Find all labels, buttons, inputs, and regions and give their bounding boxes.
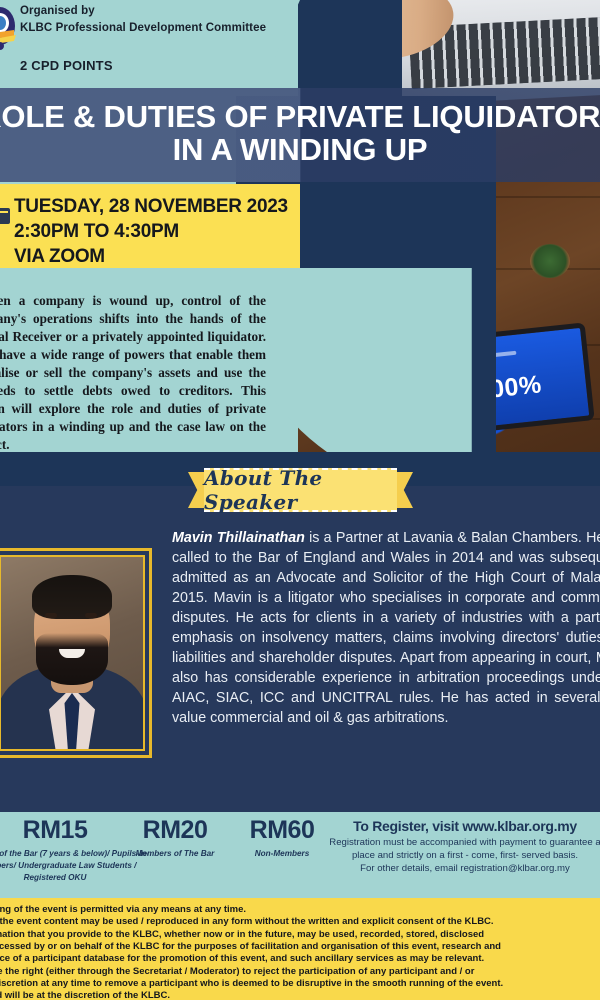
- registration-info: To Register, visit www.klbar.org.my Regi…: [310, 818, 600, 876]
- registration-heading[interactable]: To Register, visit www.klbar.org.my: [310, 818, 600, 834]
- organised-by-label: Organised by: [20, 5, 95, 17]
- disclaimer-item: No recording of the event is permitted v…: [0, 904, 600, 916]
- speaker-bio: Mavin Thillainathan is a Partner at Lava…: [172, 528, 600, 728]
- event-date: TUESDAY, 28 NOVEMBER 2023: [14, 194, 288, 219]
- disclaimer-item: Any refund will be at the discretion of …: [0, 990, 600, 1000]
- speaker-bio-text: is a Partner at Lavania & Balan Chambers…: [172, 530, 600, 726]
- registration-line-3: For other details, email registration@kl…: [310, 862, 600, 875]
- header-navy-block: [298, 0, 402, 96]
- registration-line-1: Registration must be accompanied with pa…: [310, 836, 600, 849]
- disclaimer-item: and/or processed by or on behalf of the …: [0, 941, 600, 953]
- title-line-2: IN A WINDING UP: [173, 134, 428, 167]
- about-the-speaker-ribbon: About The Speaker: [188, 468, 413, 512]
- disclaimer-section: No recording of the event is permitted v…: [0, 898, 600, 1000]
- price-tier-2: RM20 Members of The Bar: [110, 816, 240, 860]
- ribbon-label: About The Speaker: [204, 466, 397, 514]
- speaker-photo-frame: [0, 548, 152, 758]
- cpd-points-badge: 2 CPD POINTS: [20, 58, 113, 73]
- event-platform: VIA ZOOM: [14, 244, 288, 269]
- calendar-icon: [0, 208, 10, 224]
- organiser-name: KLBC Professional Development Committee: [20, 22, 266, 34]
- event-title: ROLE & DUTIES OF PRIVATE LIQUIDATORS IN …: [0, 88, 600, 180]
- disclaimer-item: exercise discretion at any time to remov…: [0, 978, 600, 990]
- event-time: 2:30PM TO 4:30PM: [14, 219, 288, 244]
- disclaimer-item: Any information that you provide to the …: [0, 929, 600, 941]
- event-description: When a company is wound up, control of t…: [0, 292, 266, 454]
- price-amount: RM20: [110, 816, 240, 845]
- disclaimer-item: We reserve the right (either through the…: [0, 966, 600, 978]
- disclaimer-item: No part of the event content may be used…: [0, 916, 600, 928]
- speaker-portrait: [0, 555, 145, 751]
- plant-image: [530, 244, 570, 278]
- event-poster: 65.00% Organised by KLBC Professional De…: [0, 0, 600, 1000]
- speaker-name: Mavin Thillainathan: [172, 530, 305, 546]
- description-text: When a company is wound up, control of t…: [0, 293, 266, 452]
- title-line-1: ROLE & DUTIES OF PRIVATE LIQUIDATORS: [0, 101, 600, 134]
- disclaimer-list: No recording of the event is permitted v…: [0, 904, 600, 1000]
- event-datetime-box: TUESDAY, 28 NOVEMBER 2023 2:30PM TO 4:30…: [0, 184, 300, 268]
- registration-line-2: place and strictly on a first - come, fi…: [310, 849, 600, 862]
- price-note: Members of The Bar: [110, 848, 240, 860]
- disclaimer-item: maintenance of a participant database fo…: [0, 953, 600, 965]
